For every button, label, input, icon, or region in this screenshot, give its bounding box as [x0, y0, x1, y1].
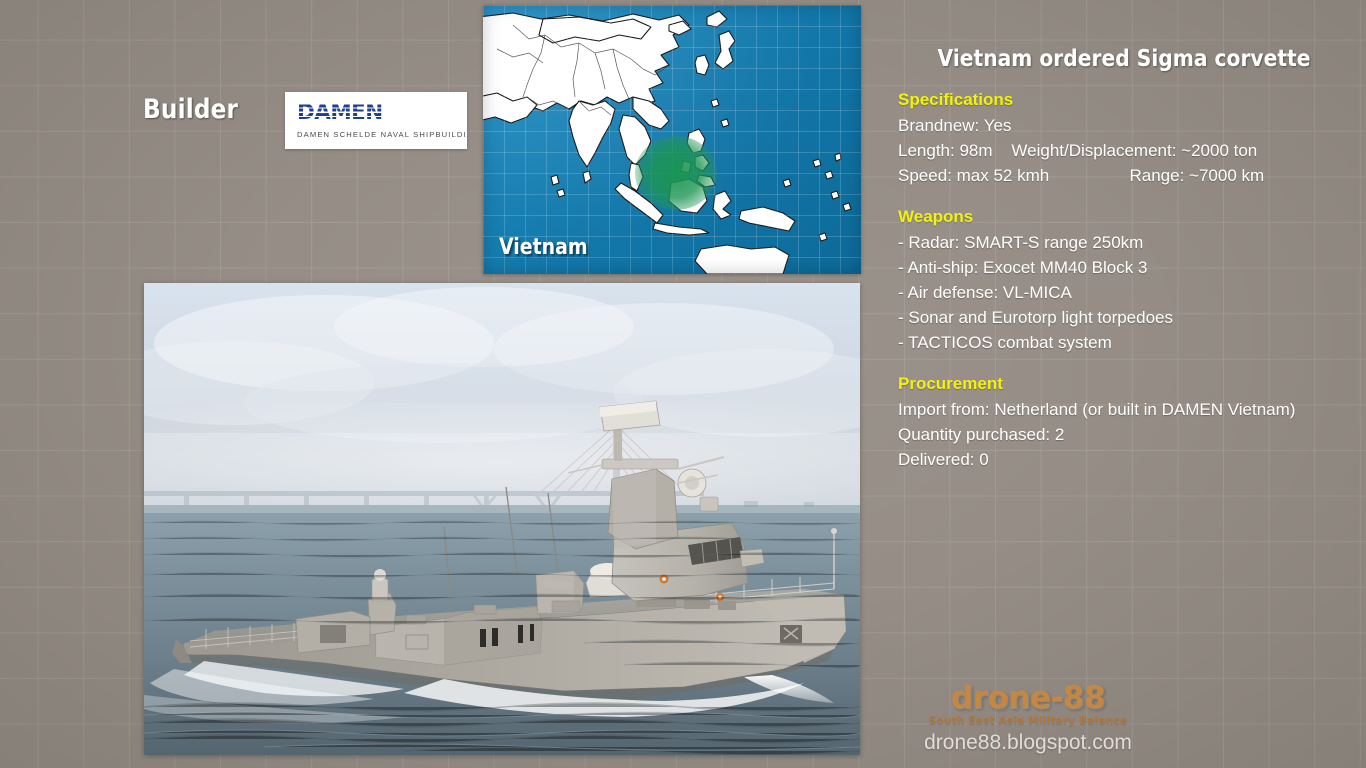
damen-wordmark: DAMEN: [297, 100, 383, 124]
sigma-corvette-image: [144, 283, 860, 755]
drone88-tagline: South East Asia Military Balance: [903, 715, 1153, 727]
region-map: Vietnam: [483, 5, 861, 274]
info-panel: Vietnam ordered Sigma corvette Specifica…: [898, 46, 1350, 489]
weapons-block: Weapons - Radar: SMART-S range 250km - A…: [898, 205, 1350, 356]
specifications-heading: Specifications: [898, 88, 1350, 112]
weapons-line: - Radar: SMART-S range 250km: [898, 231, 1350, 256]
watermark: drone-88 South East Asia Military Balanc…: [903, 683, 1153, 755]
procurement-line: Import from: Netherland (or built in DAM…: [898, 398, 1350, 423]
procurement-line: Quantity purchased: 2: [898, 423, 1350, 448]
procurement-line: Delivered: 0: [898, 448, 1350, 473]
specifications-line: Length: 98m Weight/Displacement: ~2000 t…: [898, 139, 1350, 164]
ship-photograph: [144, 283, 860, 755]
weapons-heading: Weapons: [898, 205, 1350, 229]
weapons-line: - Air defense: VL-MICA: [898, 281, 1350, 306]
specifications-line: Brandnew: Yes: [898, 114, 1350, 139]
weapons-line: - Sonar and Eurotorp light torpedoes: [898, 306, 1350, 331]
drone88-url: drone88.blogspot.com: [903, 731, 1153, 755]
specifications-line: Speed: max 52 kmh Range: ~7000 km: [898, 164, 1350, 189]
procurement-heading: Procurement: [898, 372, 1350, 396]
weapons-line: - TACTICOS combat system: [898, 331, 1350, 356]
specifications-block: Specifications Brandnew: Yes Length: 98m…: [898, 88, 1350, 189]
drone88-logo: drone-88: [903, 683, 1153, 714]
map-country-label: Vietnam: [499, 235, 588, 260]
map-landmasses-icon: [483, 5, 861, 274]
builder-label: Builder: [143, 94, 238, 125]
weapons-line: - Anti-ship: Exocet MM40 Block 3: [898, 256, 1350, 281]
damen-tagline: DAMEN SCHELDE NAVAL SHIPBUILDING: [297, 130, 467, 139]
damen-logo-card: DAMEN DAMEN SCHELDE NAVAL SHIPBUILDING: [285, 92, 467, 149]
page-title: Vietnam ordered Sigma corvette: [925, 46, 1323, 72]
procurement-block: Procurement Import from: Netherland (or …: [898, 372, 1350, 473]
